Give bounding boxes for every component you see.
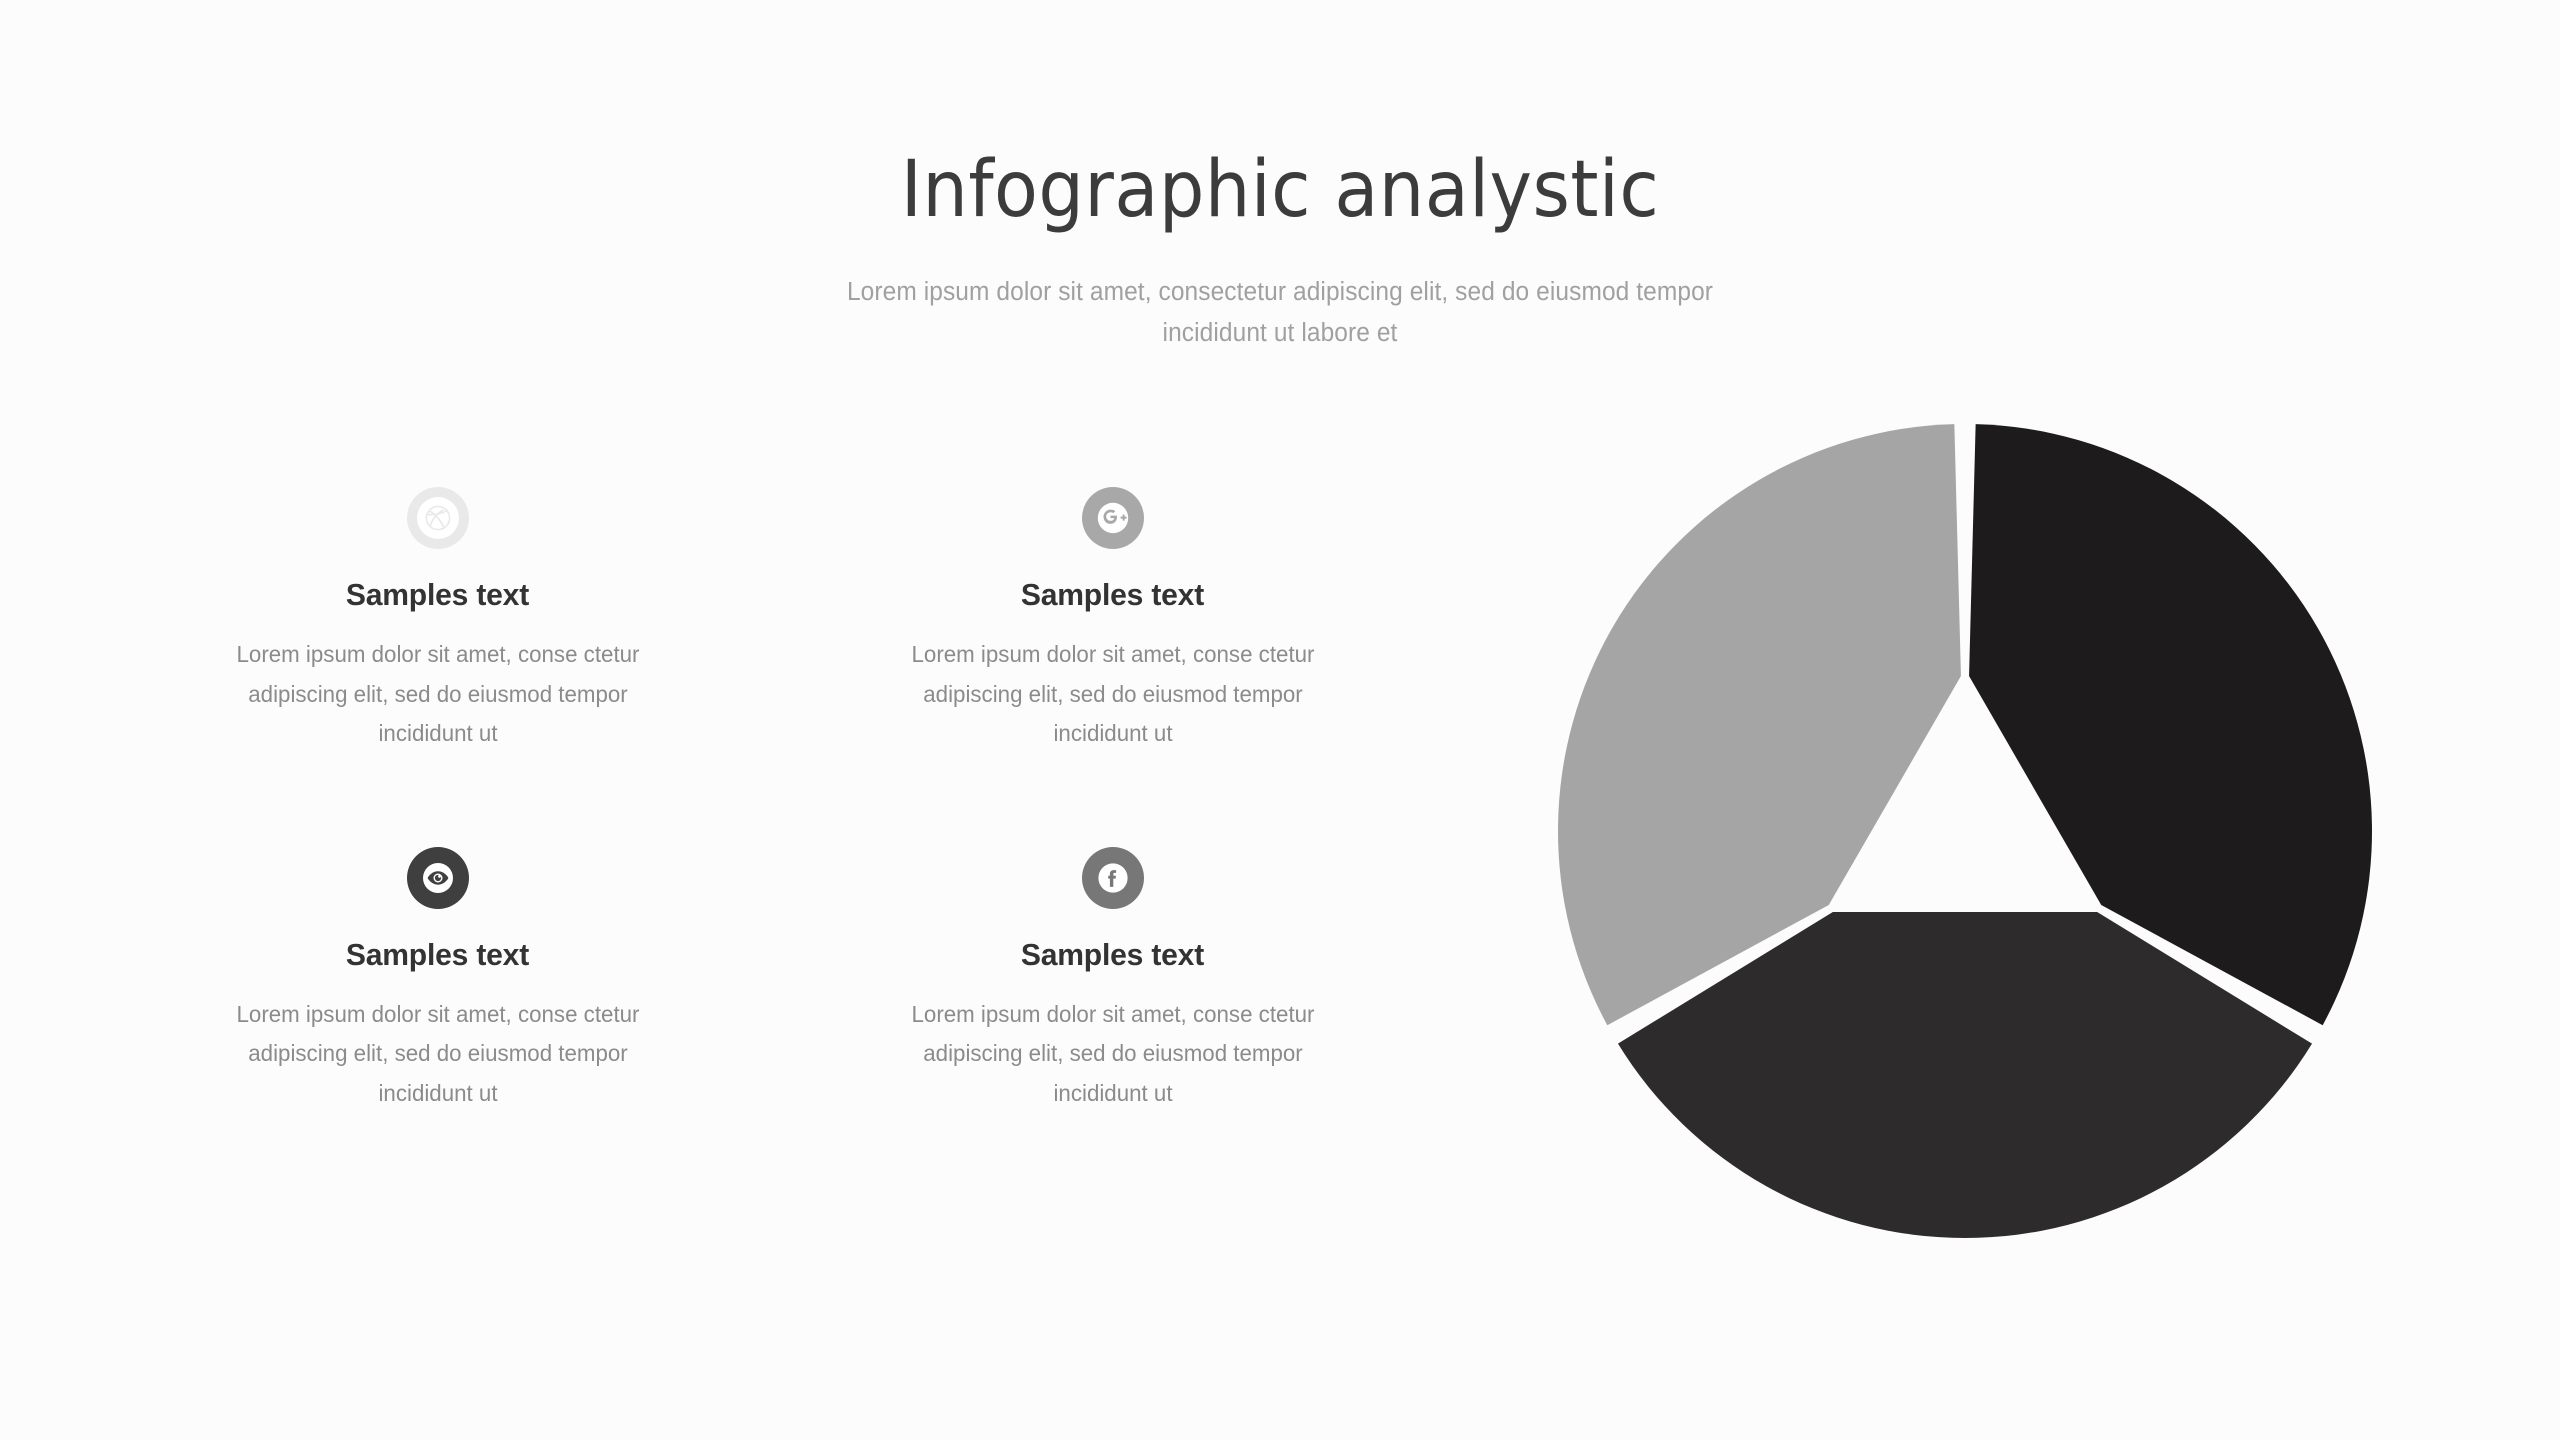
feature-item-google-plus[interactable]: Samples text Lorem ipsum dolor sit amet,… — [785, 487, 1440, 754]
pie-chart — [1545, 415, 2385, 1255]
facebook-icon[interactable] — [1082, 847, 1144, 909]
feature-body: Lorem ipsum dolor sit amet, conse ctetur… — [205, 995, 671, 1114]
feature-body: Lorem ipsum dolor sit amet, conse ctetur… — [880, 995, 1346, 1114]
feature-title: Samples text — [346, 937, 529, 973]
feature-body: Lorem ipsum dolor sit amet, conse ctetur… — [205, 635, 671, 754]
feature-title: Samples text — [1021, 577, 1204, 613]
pie-slice-group — [1558, 424, 2372, 1238]
feature-title: Samples text — [1021, 937, 1204, 973]
page-title: Infographic analystic — [102, 150, 2457, 232]
feature-item-facebook[interactable]: Samples text Lorem ipsum dolor sit amet,… — [785, 847, 1440, 1114]
feature-grid: Samples text Lorem ipsum dolor sit amet,… — [110, 487, 1440, 1113]
header: Infographic analystic Lorem ipsum dolor … — [0, 150, 2560, 354]
feature-title: Samples text — [346, 577, 529, 613]
feature-item-eye[interactable]: Samples text Lorem ipsum dolor sit amet,… — [110, 847, 765, 1114]
page-subtitle: Lorem ipsum dolor sit amet, consectetur … — [795, 272, 1765, 355]
eye-icon[interactable] — [407, 847, 469, 909]
feature-body: Lorem ipsum dolor sit amet, conse ctetur… — [880, 635, 1346, 754]
pie-chart-svg — [1545, 415, 2385, 1255]
feature-item-dribbble[interactable]: Samples text Lorem ipsum dolor sit amet,… — [110, 487, 765, 754]
dribbble-icon[interactable] — [407, 487, 469, 549]
google-plus-icon[interactable] — [1082, 487, 1144, 549]
